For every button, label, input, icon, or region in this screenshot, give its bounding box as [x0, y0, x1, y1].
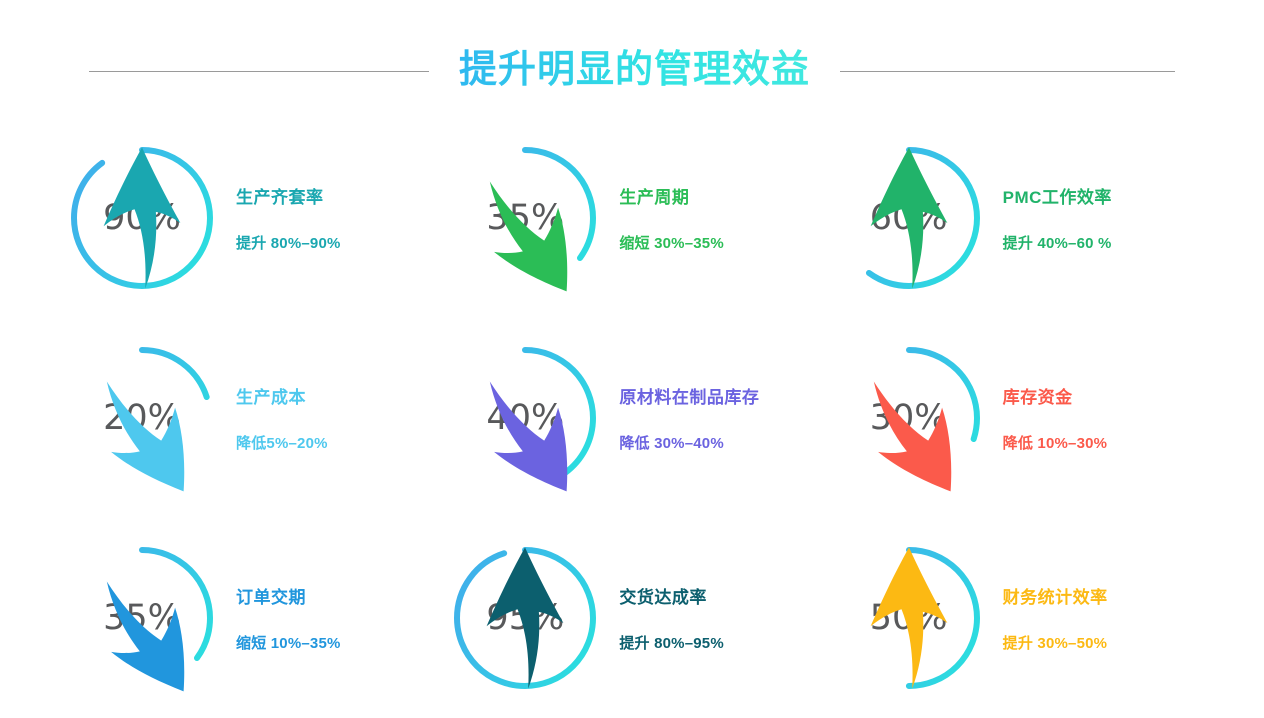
metrics-grid: 90%生产齐套率提升 80%–90%35%生产周期缩短 30%–35%60%PM… — [62, 118, 1212, 718]
page-title: 提升明显的管理效益 — [455, 46, 814, 96]
metric-sublabel: 缩短 30%–35% — [619, 232, 724, 253]
metric-label: 库存资金 — [1003, 383, 1073, 408]
metric-text: 原材料在制品库存降低 30%–40% — [615, 383, 759, 453]
gauge-center: 90% — [62, 138, 222, 298]
gauge-center: 35% — [62, 538, 222, 698]
gauge-ring: 60% — [829, 138, 989, 298]
title-rule-left — [89, 71, 429, 72]
metric-sublabel: 降低 30%–40% — [619, 432, 724, 453]
metric-text: 生产周期缩短 30%–35% — [615, 183, 724, 253]
metric-label: 生产成本 — [236, 383, 306, 408]
metric-card: 35%生产周期缩短 30%–35% — [445, 118, 828, 318]
metric-sublabel: 降低5%–20% — [236, 432, 328, 453]
metric-sublabel: 降低 10%–30% — [1003, 432, 1108, 453]
arrow-down-icon — [829, 342, 989, 502]
gauge-ring: 30% — [829, 338, 989, 498]
metric-text: 财务统计效率提升 30%–50% — [999, 583, 1108, 653]
gauge-ring: 50% — [829, 538, 989, 698]
arrow-up-icon — [445, 542, 605, 702]
arrow-down-icon — [62, 542, 222, 702]
metric-label: 交货达成率 — [619, 583, 707, 608]
arrow-up-icon — [62, 142, 222, 302]
metric-sublabel: 提升 80%–95% — [619, 632, 724, 653]
metric-sublabel: 提升 40%–60 % — [1003, 232, 1112, 253]
gauge-center: 60% — [829, 138, 989, 298]
gauge-center: 50% — [829, 538, 989, 698]
gauge-ring: 40% — [445, 338, 605, 498]
metric-card: 20%生产成本降低5%–20% — [62, 318, 445, 518]
gauge-center: 30% — [829, 338, 989, 498]
metric-sublabel: 提升 80%–90% — [236, 232, 341, 253]
gauge-center: 40% — [445, 338, 605, 498]
metric-card: 50%财务统计效率提升 30%–50% — [829, 518, 1212, 718]
page-header: 提升明显的管理效益 — [0, 40, 1264, 102]
metric-text: 交货达成率提升 80%–95% — [615, 583, 724, 653]
metric-text: 订单交期缩短 10%–35% — [232, 583, 341, 653]
metric-label: 订单交期 — [236, 583, 306, 608]
metric-label: 生产周期 — [619, 183, 689, 208]
metric-card: 60%PMC工作效率提升 40%–60 % — [829, 118, 1212, 318]
title-rule-right — [840, 71, 1175, 72]
gauge-ring: 35% — [445, 138, 605, 298]
metric-text: 生产成本降低5%–20% — [232, 383, 328, 453]
gauge-center: 95% — [445, 538, 605, 698]
arrow-down-icon — [445, 142, 605, 302]
metric-sublabel: 缩短 10%–35% — [236, 632, 341, 653]
metric-label: 财务统计效率 — [1003, 583, 1108, 608]
gauge-ring: 95% — [445, 538, 605, 698]
arrow-down-icon — [62, 342, 222, 502]
metric-card: 35%订单交期缩短 10%–35% — [62, 518, 445, 718]
metric-label: 生产齐套率 — [236, 183, 324, 208]
metric-card: 90%生产齐套率提升 80%–90% — [62, 118, 445, 318]
metric-card: 40%原材料在制品库存降低 30%–40% — [445, 318, 828, 518]
metric-label: 原材料在制品库存 — [619, 383, 759, 408]
metric-text: 库存资金降低 10%–30% — [999, 383, 1108, 453]
metric-card: 30%库存资金降低 10%–30% — [829, 318, 1212, 518]
gauge-ring: 90% — [62, 138, 222, 298]
metric-label: PMC工作效率 — [1003, 183, 1112, 208]
arrow-up-icon — [829, 142, 989, 302]
metric-text: PMC工作效率提升 40%–60 % — [999, 183, 1112, 253]
metric-card: 95%交货达成率提升 80%–95% — [445, 518, 828, 718]
gauge-ring: 35% — [62, 538, 222, 698]
gauge-ring: 20% — [62, 338, 222, 498]
gauge-center: 35% — [445, 138, 605, 298]
arrow-down-icon — [445, 342, 605, 502]
gauge-center: 20% — [62, 338, 222, 498]
arrow-up-icon — [829, 542, 989, 702]
metric-sublabel: 提升 30%–50% — [1003, 632, 1108, 653]
metric-text: 生产齐套率提升 80%–90% — [232, 183, 341, 253]
